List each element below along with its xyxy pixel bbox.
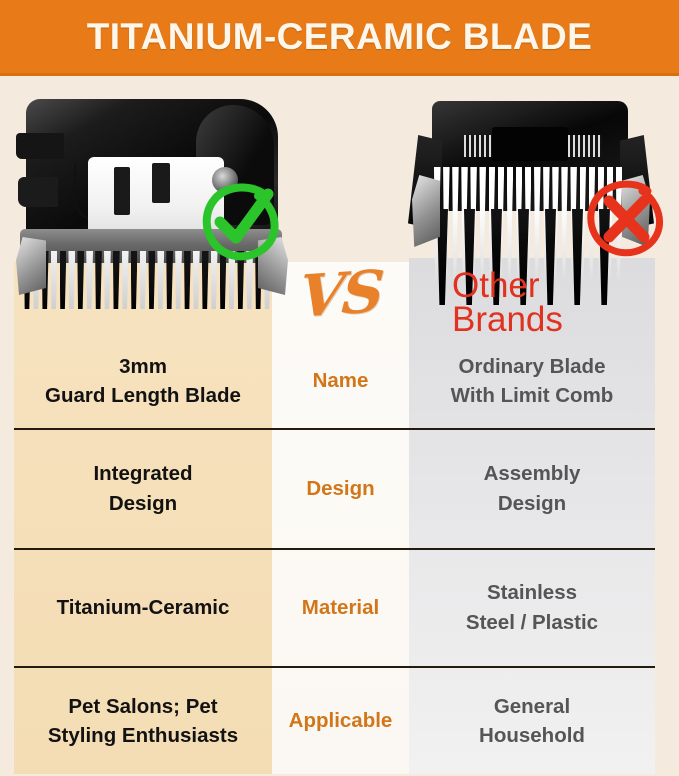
cell-theirs: Ordinary Blade With Limit Comb — [409, 334, 655, 428]
cell-text: Assembly Design — [484, 459, 581, 517]
cell-theirs: Assembly Design — [409, 429, 655, 548]
table-row: Integrated Design Design Assembly Design — [14, 429, 655, 548]
cell-ours: 3mm Guard Length Blade — [14, 334, 272, 428]
cell-ours: Titanium-Ceramic — [14, 549, 272, 666]
cell-text: Design — [306, 475, 374, 503]
table-row: Titanium-Ceramic Material Stainless Stee… — [14, 549, 655, 666]
cell-ours: Pet Salons; Pet Styling Enthusiasts — [14, 667, 272, 775]
table-row: Pet Salons; Pet Styling Enthusiasts Appl… — [14, 667, 655, 775]
cell-attribute: Design — [272, 429, 409, 548]
cell-theirs: General Household — [409, 667, 655, 775]
cell-text: Pet Salons; Pet Styling Enthusiasts — [48, 692, 238, 750]
cell-text: Material — [302, 594, 379, 622]
cell-text: General Household — [479, 692, 585, 750]
comparison-canvas: Other Brands VS 3mm Guard Length Blade N… — [0, 79, 679, 776]
cell-attribute: Material — [272, 549, 409, 666]
cell-text: Integrated Design — [93, 459, 192, 517]
cell-text: Applicable — [289, 707, 393, 735]
table-row: 3mm Guard Length Blade Name Ordinary Bla… — [14, 334, 655, 428]
cell-text: Stainless Steel / Plastic — [466, 578, 598, 636]
cell-attribute: Applicable — [272, 667, 409, 775]
comparison-table: 3mm Guard Length Blade Name Ordinary Bla… — [0, 79, 679, 776]
cell-text: Titanium-Ceramic — [57, 593, 230, 622]
cell-theirs: Stainless Steel / Plastic — [409, 549, 655, 666]
page-title: TITANIUM-CERAMIC BLADE — [87, 16, 593, 58]
header-banner: TITANIUM-CERAMIC BLADE — [0, 0, 679, 76]
cell-ours: Integrated Design — [14, 429, 272, 548]
cell-text: Name — [313, 367, 369, 395]
cell-attribute: Name — [272, 334, 409, 428]
cell-text: 3mm Guard Length Blade — [45, 352, 241, 410]
cell-text: Ordinary Blade With Limit Comb — [451, 352, 614, 410]
